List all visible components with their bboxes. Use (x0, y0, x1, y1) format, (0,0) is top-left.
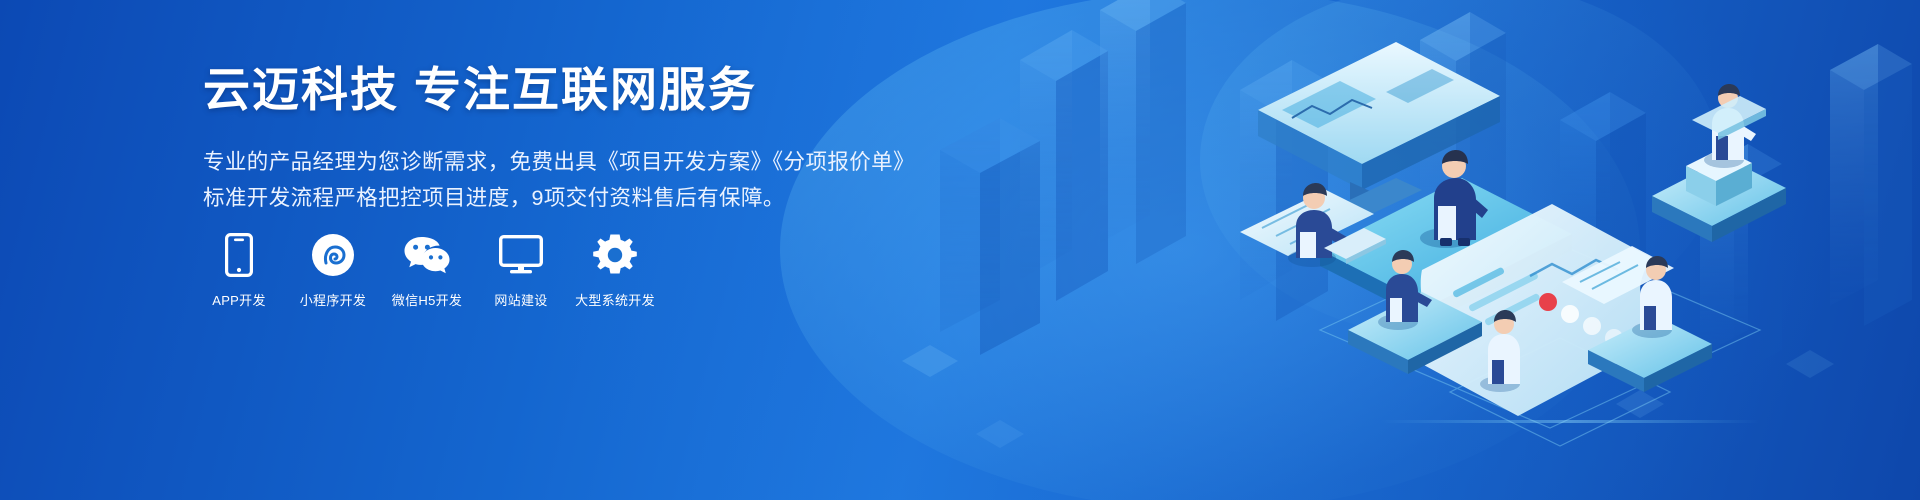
service-label: 大型系统开发 (575, 290, 655, 309)
isometric-team-illustration (1200, 0, 1920, 500)
subtitle-line-1: 专业的产品经理为您诊断需求，免费出具《项目开发方案》《分项报价单》 (203, 144, 963, 180)
service-item-website[interactable]: 网站建设 (485, 232, 557, 309)
monitor-icon (499, 232, 543, 278)
service-item-mini-program[interactable]: 小程序开发 (297, 232, 369, 309)
hero-banner: 云迈科技 专注互联网服务 专业的产品经理为您诊断需求，免费出具《项目开发方案》《… (0, 0, 1920, 500)
page-title: 云迈科技 专注互联网服务 (203, 62, 963, 118)
mini-program-icon (311, 232, 355, 278)
subtitle-line-2: 标准开发流程严格把控项目进度，9项交付资料售后有保障。 (203, 180, 963, 216)
service-item-large-system[interactable]: 大型系统开发 (579, 232, 651, 309)
service-item-wechat-h5[interactable]: 微信H5开发 (391, 232, 463, 309)
service-label: 小程序开发 (300, 290, 367, 309)
service-label: APP开发 (212, 290, 266, 309)
service-item-app[interactable]: APP开发 (203, 232, 275, 309)
smartphone-icon (225, 232, 253, 278)
service-label: 微信H5开发 (392, 290, 462, 309)
banner-text-block: 云迈科技 专注互联网服务 专业的产品经理为您诊断需求，免费出具《项目开发方案》《… (203, 62, 963, 216)
service-label: 网站建设 (494, 290, 547, 309)
service-list: APP开发 小程序开发 微信 (203, 232, 651, 309)
wechat-icon (403, 232, 451, 278)
gear-icon (593, 232, 637, 278)
